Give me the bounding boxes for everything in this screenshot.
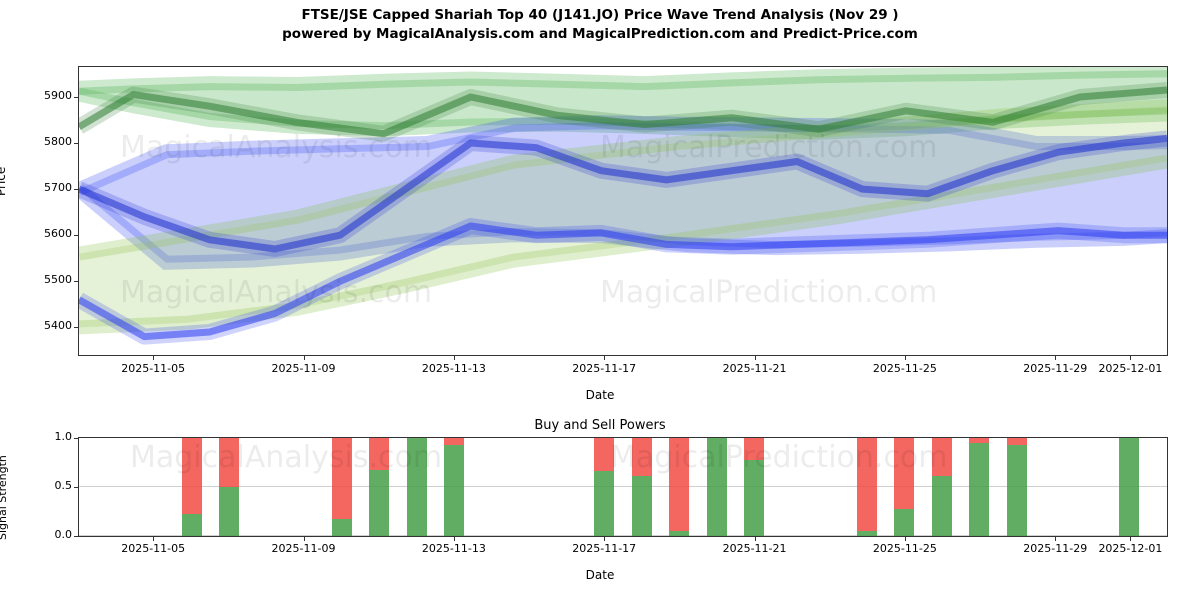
chart-title-block: FTSE/JSE Capped Shariah Top 40 (J141.JO)… [0,6,1200,44]
price-wave-plot [78,66,1168,356]
signal-x-tick-label: 2025-11-09 [272,542,336,555]
price-y-tick-label: 5800 [12,135,72,148]
buy-power-segment [369,470,389,536]
signal-x-tick-mark [1055,537,1056,541]
sell-power-segment [219,438,239,487]
signal-bar [857,438,877,536]
signal-x-tick-mark [604,537,605,541]
signal-x-tick-mark [905,537,906,541]
sell-power-segment [632,438,652,476]
buy-sell-powers-plot [78,437,1168,537]
signal-gridline [79,535,1167,536]
buy-power-segment [182,514,202,536]
signal-y-tick-label: 0.5 [12,479,72,492]
signal-x-tick-label: 2025-12-01 [1098,542,1162,555]
signal-bar [219,438,239,536]
price-y-tick-mark [74,235,78,236]
price-x-tick-mark [905,356,906,360]
price-y-tick-mark [74,281,78,282]
signal-x-tick-mark [1130,537,1131,541]
price-x-tick-mark [755,356,756,360]
sell-power-segment [332,438,352,519]
price-x-tick-mark [153,356,154,360]
sell-power-segment [669,438,689,531]
buy-power-segment [1007,445,1027,536]
signal-bar [332,438,352,536]
sell-power-segment [932,438,952,476]
signal-y-tick-label: 0.0 [12,528,72,541]
chart-page: FTSE/JSE Capped Shariah Top 40 (J141.JO)… [0,0,1200,600]
price-wave-svg [79,67,1167,355]
buy-power-segment [894,509,914,536]
price-x-tick-label: 2025-11-17 [572,362,636,375]
price-x-tick-label: 2025-11-21 [723,362,787,375]
price-y-tick-label: 5900 [12,89,72,102]
page-subtitle: powered by MagicalAnalysis.com and Magic… [0,25,1200,44]
signal-x-tick-mark [304,537,305,541]
sell-power-segment [857,438,877,531]
sell-power-segment [744,438,764,460]
price-x-tick-mark [304,356,305,360]
signal-x-tick-label: 2025-11-29 [1023,542,1087,555]
buy-power-segment [407,438,427,536]
signal-x-tick-label: 2025-11-21 [723,542,787,555]
sell-power-segment [444,438,464,445]
sell-power-segment [594,438,614,471]
price-x-tick-label: 2025-11-25 [873,362,937,375]
price-x-tick-mark [604,356,605,360]
page-title: FTSE/JSE Capped Shariah Top 40 (J141.JO)… [0,6,1200,25]
price-x-tick-label: 2025-11-09 [272,362,336,375]
signal-x-axis-label: Date [0,568,1200,582]
signal-y-tick-mark [74,487,78,488]
signal-gridline [79,437,1167,438]
signal-bar [932,438,952,536]
signal-x-tick-label: 2025-11-05 [121,542,185,555]
buy-power-segment [632,476,652,536]
price-y-axis-label: Price [0,167,8,196]
price-x-axis-label: Date [0,388,1200,402]
price-y-tick-label: 5400 [12,319,72,332]
buy-power-segment [969,443,989,536]
buy-power-segment [594,471,614,536]
sell-power-segment [369,438,389,470]
signal-bar [369,438,389,536]
sell-power-segment [894,438,914,509]
price-x-tick-label: 2025-11-29 [1023,362,1087,375]
buy-power-segment [1119,438,1139,536]
buy-power-segment [744,460,764,536]
price-x-tick-label: 2025-12-01 [1098,362,1162,375]
signal-bar [632,438,652,536]
price-x-tick-mark [454,356,455,360]
price-y-tick-label: 5700 [12,181,72,194]
price-x-tick-label: 2025-11-13 [422,362,486,375]
buy-power-segment [219,487,239,536]
signal-bar [894,438,914,536]
sub-chart-title: Buy and Sell Powers [0,418,1200,433]
signal-x-tick-mark [755,537,756,541]
signal-bar [707,438,727,536]
signal-gridline [79,486,1167,487]
signal-bar [744,438,764,536]
signal-y-axis-label: Signal Strength [0,455,9,540]
sell-power-segment [1007,438,1027,445]
price-x-tick-mark [1055,356,1056,360]
signal-bar [594,438,614,536]
price-y-tick-label: 5600 [12,227,72,240]
price-y-tick-mark [74,189,78,190]
signal-x-tick-label: 2025-11-13 [422,542,486,555]
signal-bar [407,438,427,536]
signal-y-tick-mark [74,438,78,439]
signal-bar [669,438,689,536]
signal-bar [444,438,464,536]
price-y-tick-mark [74,143,78,144]
buy-power-segment [444,445,464,536]
signal-bar [1119,438,1139,536]
signal-x-tick-mark [454,537,455,541]
buy-power-segment [707,438,727,536]
signal-x-tick-label: 2025-11-17 [572,542,636,555]
price-y-tick-mark [74,327,78,328]
signal-bar [1007,438,1027,536]
signal-x-tick-label: 2025-11-25 [873,542,937,555]
buy-power-segment [669,531,689,536]
signal-y-tick-label: 1.0 [12,430,72,443]
buy-power-segment [857,531,877,536]
price-x-tick-mark [1130,356,1131,360]
signal-bar [182,438,202,536]
signal-bar [969,438,989,536]
signal-y-tick-mark [74,536,78,537]
buy-power-segment [332,519,352,536]
price-y-tick-label: 5500 [12,273,72,286]
sell-power-segment [182,438,202,514]
buy-power-segment [932,476,952,536]
buy-sell-bars-container [79,438,1167,536]
price-x-tick-label: 2025-11-05 [121,362,185,375]
price-y-tick-mark [74,97,78,98]
signal-x-tick-mark [153,537,154,541]
